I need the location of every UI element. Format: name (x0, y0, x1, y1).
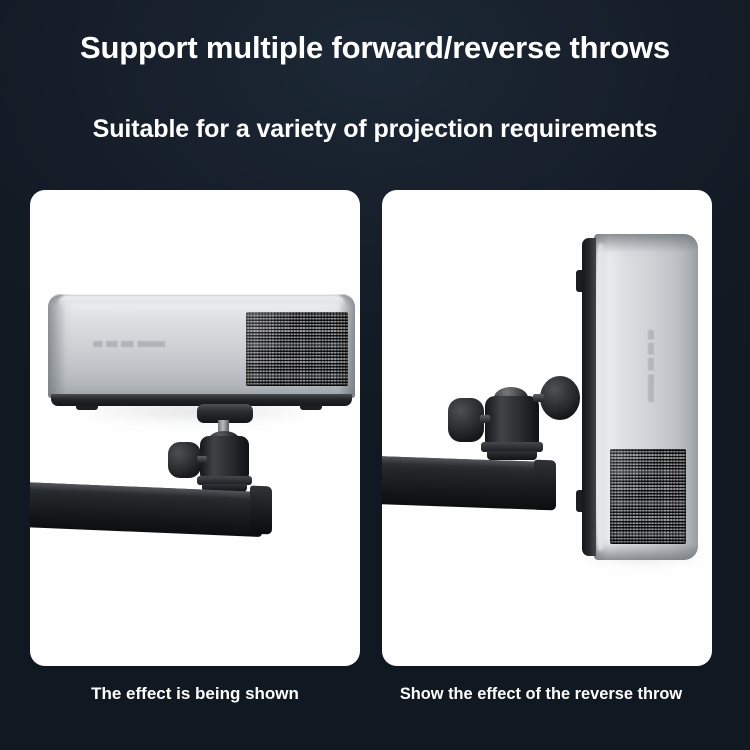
caption-reverse-throw: Show the effect of the reverse throw (376, 682, 706, 706)
wall-bracket-arm (30, 482, 284, 538)
projector-rotated (580, 234, 698, 560)
wall-bracket-arm (382, 456, 574, 516)
bracket-end-cap (534, 460, 556, 511)
projector-foot (76, 405, 98, 410)
grille-highlight (610, 449, 686, 544)
projector-edge-highlight (595, 243, 608, 551)
projector-brand-marking (648, 330, 654, 402)
projector-foot (576, 270, 582, 292)
projector-foot (576, 490, 582, 512)
mount-barrel (485, 396, 539, 446)
page-title: Support multiple forward/reverse throws (0, 28, 750, 68)
projector-top-highlight (58, 295, 345, 308)
speaker-grille (246, 312, 348, 386)
scene-forward-throw (30, 190, 360, 666)
product-feature-banner: Support multiple forward/reverse throws … (0, 0, 750, 750)
panel-forward-throw (30, 190, 360, 666)
page-subtitle: Suitable for a variety of projection req… (0, 112, 750, 146)
projector-foot (300, 405, 322, 410)
grille-highlight (246, 312, 348, 386)
caption-forward-throw: The effect is being shown (30, 682, 360, 706)
panel-reverse-throw (382, 190, 712, 666)
speaker-grille (610, 449, 686, 544)
projector-left-endcap (48, 294, 74, 398)
projector-brand-marking (93, 341, 165, 347)
projector-horizontal (48, 294, 355, 406)
scene-reverse-throw (382, 190, 712, 666)
mount-tightening-knob (168, 442, 201, 478)
mount-tightening-knob (448, 398, 484, 442)
projector-top-endcap (594, 234, 698, 258)
mount-barrel (200, 436, 249, 479)
mount-pan-knob (540, 376, 580, 420)
bracket-end-cap (250, 486, 272, 535)
